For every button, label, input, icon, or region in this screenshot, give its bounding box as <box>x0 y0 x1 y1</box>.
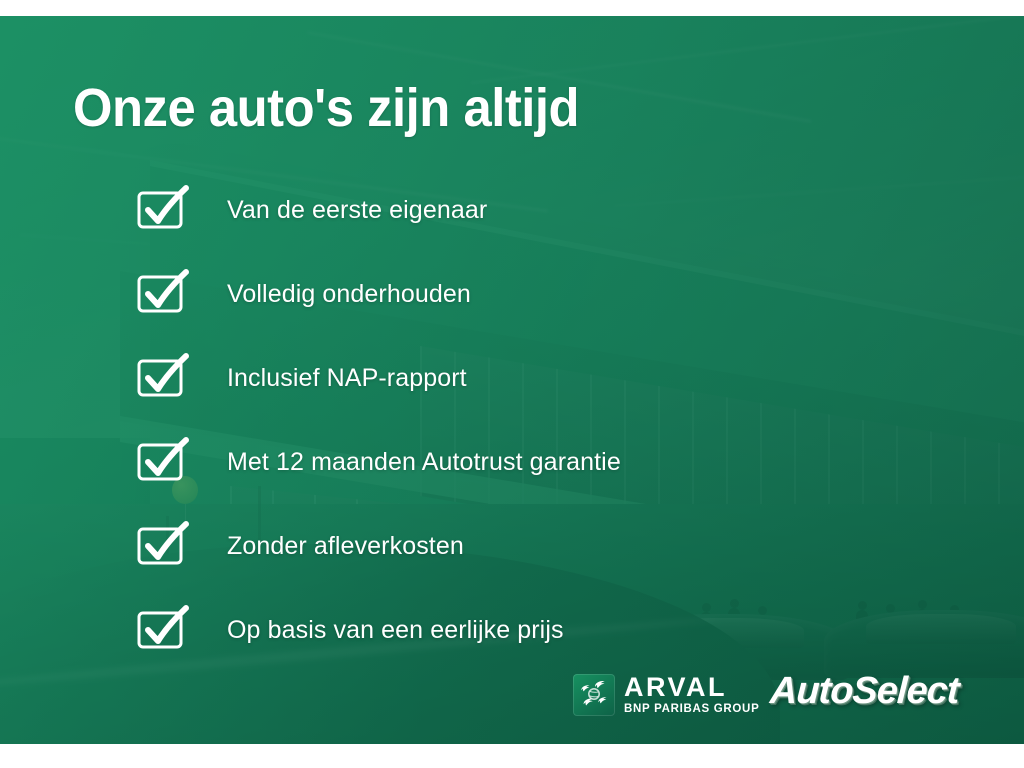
slide-root: Onze auto's zijn altijd Van de eerste ei… <box>0 0 1024 768</box>
arval-wordmark: ARVAL BNP PARIBAS GROUP <box>624 674 759 716</box>
checkbox-check-icon <box>138 607 188 653</box>
arval-subtitle: BNP PARIBAS GROUP <box>624 704 759 716</box>
logo-bar: ARVAL BNP PARIBAS GROUP AutoSelect <box>0 672 1024 736</box>
checkbox-check-icon <box>138 523 188 569</box>
hero-banner: Onze auto's zijn altijd Van de eerste ei… <box>0 16 1024 744</box>
list-item: Inclusief NAP-rapport <box>0 336 1024 420</box>
checkbox-check-icon <box>138 439 188 485</box>
list-item-label: Inclusief NAP-rapport <box>227 364 467 393</box>
list-item: Volledig onderhouden <box>0 252 1024 336</box>
list-item: Op basis van een eerlijke prijs <box>0 588 1024 672</box>
list-item-label: Met 12 maanden Autotrust garantie <box>227 448 621 477</box>
checkbox-check-icon <box>138 271 188 317</box>
page-title: Onze auto's zijn altijd <box>73 80 579 137</box>
feature-list: Van de eerste eigenaar Volledig onderhou… <box>0 168 1024 672</box>
list-item: Met 12 maanden Autotrust garantie <box>0 420 1024 504</box>
checkbox-check-icon <box>138 355 188 401</box>
bnp-paribas-stars-icon <box>573 674 615 716</box>
arval-name: ARVAL <box>624 674 759 701</box>
autoselect-logo[interactable]: AutoSelect <box>769 670 960 713</box>
list-item-label: Volledig onderhouden <box>227 280 471 309</box>
checkbox-check-icon <box>138 187 188 233</box>
banner-content: Onze auto's zijn altijd Van de eerste ei… <box>0 16 1024 744</box>
list-item: Zonder afleverkosten <box>0 504 1024 588</box>
list-item-label: Van de eerste eigenaar <box>227 196 487 225</box>
list-item: Van de eerste eigenaar <box>0 168 1024 252</box>
list-item-label: Op basis van een eerlijke prijs <box>227 616 564 645</box>
arval-logo[interactable]: ARVAL BNP PARIBAS GROUP <box>573 674 759 716</box>
list-item-label: Zonder afleverkosten <box>227 532 464 561</box>
